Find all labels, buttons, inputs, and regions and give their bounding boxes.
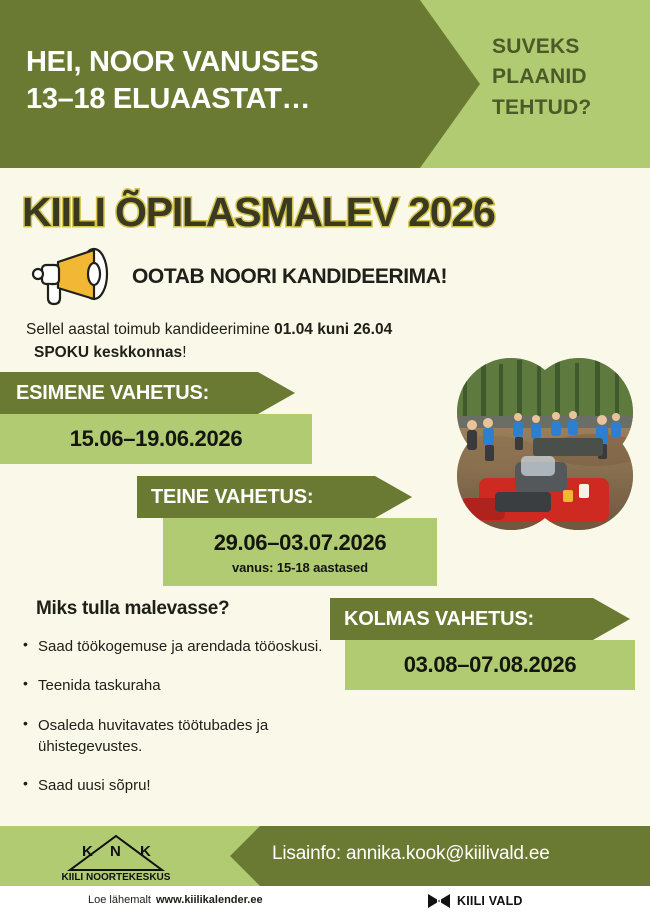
poster: HEI, NOOR VANUSES 13–18 ELUAASTAT… SUVEK… <box>0 0 650 919</box>
shift-2-dates: 29.06–03.07.2026 <box>214 530 387 556</box>
header-side-line1: SUVEKS <box>492 32 642 62</box>
shift-1-body: 15.06–19.06.2026 <box>0 414 312 464</box>
intro-line2: SPOKU keskkonnas! <box>26 341 456 364</box>
header-side-question: SUVEKS PLAANID TEHTUD? <box>492 32 642 123</box>
shift-2-heading: TEINE VAHETUS: <box>137 476 412 518</box>
kiili-vald-logo: KIILI VALD <box>428 893 523 909</box>
activity-photo <box>455 358 635 530</box>
kiili-vald-label: KIILI VALD <box>457 894 523 908</box>
shift-2-age-note: vanus: 15-18 aastased <box>232 560 368 575</box>
header-headline-line1: HEI, NOOR VANUSES <box>26 46 318 78</box>
header-side-line3: TEHTUD? <box>492 93 642 123</box>
why-join-list: Saad töökogemuse ja arendada tööoskusi. … <box>22 636 332 814</box>
why-join-title: Miks tulla malevasse? <box>36 598 229 620</box>
megaphone-icon <box>24 246 120 308</box>
header-side-line2: PLAANID <box>492 62 642 92</box>
knk-caption: KIILI NOORTEKESKUS <box>62 872 171 882</box>
contact-email[interactable]: Lisainfo: annika.kook@kiilivald.ee <box>272 843 550 865</box>
shift-1-heading: ESIMENE VAHETUS: <box>0 372 295 414</box>
header-headline: HEI, NOOR VANUSES 13–18 ELUAASTAT… <box>26 44 426 118</box>
read-more-label: Loe lähemalt <box>88 894 151 906</box>
read-more: Loe lähemaltwww.kiilikalender.ee <box>88 894 263 906</box>
header-headline-line2: 13–18 ELUAASTAT… <box>26 81 426 118</box>
intro-line1-pre: Sellel aastal toimub kandideerimine <box>26 321 274 338</box>
list-item: Saad töökogemuse ja arendada tööoskusi. <box>22 636 332 657</box>
shift-1-dates: 15.06–19.06.2026 <box>70 426 243 452</box>
page-subtitle: OOTAB NOORI KANDIDEERIMA! <box>132 265 447 289</box>
intro-dates: 01.04 kuni 26.04 <box>274 321 392 338</box>
page-title: KIILI ÕPILASMALEV 2026 <box>22 189 495 236</box>
shift-3-dates: 03.08–07.08.2026 <box>404 652 577 678</box>
application-period-text: Sellel aastal toimub kandideerimine 01.0… <box>26 318 456 365</box>
kiili-noortekeskus-logo: K N K KIILI NOORTEKESKUS <box>58 832 174 882</box>
list-item: Teenida taskuraha <box>22 675 332 696</box>
list-item: Saad uusi sõpru! <box>22 775 332 796</box>
shift-3-heading: KOLMAS VAHETUS: <box>330 598 630 640</box>
knk-letter-k2: K <box>140 843 151 860</box>
kiili-vald-mark-icon <box>428 893 450 909</box>
read-more-url[interactable]: www.kiilikalender.ee <box>156 894 263 906</box>
intro-line2-post: ! <box>182 344 186 361</box>
shift-3-body: 03.08–07.08.2026 <box>345 640 635 690</box>
header-band: HEI, NOOR VANUSES 13–18 ELUAASTAT… SUVEK… <box>0 0 650 168</box>
list-item: Osaleda huvitavates töötubades ja ühiste… <box>22 715 332 758</box>
intro-platform: SPOKU keskkonnas <box>34 344 182 361</box>
knk-letter-k1: K <box>82 843 93 860</box>
knk-letter-n: N <box>110 843 121 860</box>
subtitle-row: OOTAB NOORI KANDIDEERIMA! <box>24 246 447 308</box>
shift-2-body: 29.06–03.07.2026 vanus: 15-18 aastased <box>163 518 437 586</box>
